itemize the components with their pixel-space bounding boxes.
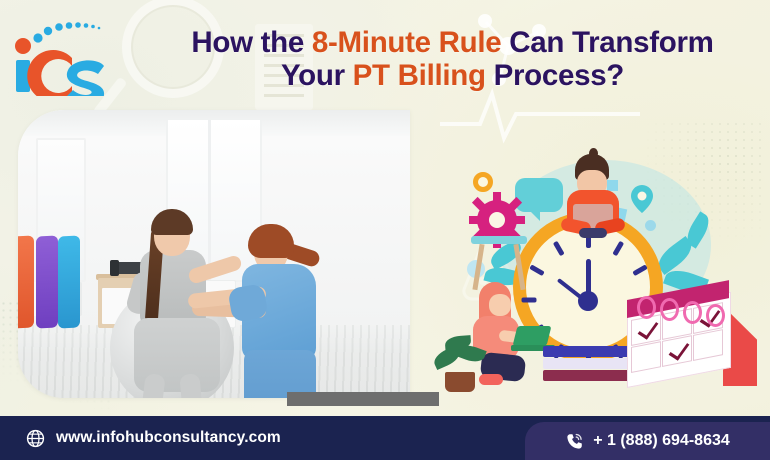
yoga-mat-blue: [58, 235, 80, 328]
person-on-clock: [553, 154, 633, 238]
globe-icon: [26, 429, 45, 448]
time-management-illustration: [455, 150, 770, 410]
book-stack: [543, 346, 635, 386]
website-link[interactable]: www.infohubconsultancy.com: [26, 416, 281, 460]
page-title: How the 8-Minute Rule Can Transform Your…: [140, 26, 765, 92]
headline-line1-part2: Can Transform: [501, 26, 713, 59]
yoga-mat-purple: [36, 235, 58, 328]
yoga-mat-orange: [18, 235, 34, 328]
photo-bottom-bar: [287, 392, 439, 406]
promotional-banner: How the 8-Minute Rule Can Transform Your…: [0, 0, 770, 460]
headline-line2-accent: PT Billing: [353, 59, 486, 92]
phone-text: + 1 (888) 694-8634: [593, 432, 730, 450]
clock-knob: [473, 172, 493, 192]
potted-plant: [431, 334, 491, 392]
headline-line2-part2: Process?: [486, 59, 624, 92]
phone-badge[interactable]: + 1 (888) 694-8634: [525, 422, 770, 460]
ics-logo[interactable]: [8, 14, 116, 96]
therapist-figure: [220, 224, 400, 398]
website-text: www.infohubconsultancy.com: [56, 429, 281, 447]
footer-bar: www.infohubconsultancy.com + 1 (888) 694…: [0, 416, 770, 460]
stool: [471, 236, 527, 288]
heartbeat-watermark-icon: [440, 84, 640, 144]
calendar-graphic: [627, 300, 755, 386]
headline-line1-part1: How the: [191, 26, 312, 59]
headline-line2-part1: Your: [281, 59, 353, 92]
headline-line1-accent: 8-Minute Rule: [312, 26, 502, 59]
therapy-photo: [18, 110, 410, 398]
phone-icon: [565, 432, 584, 451]
